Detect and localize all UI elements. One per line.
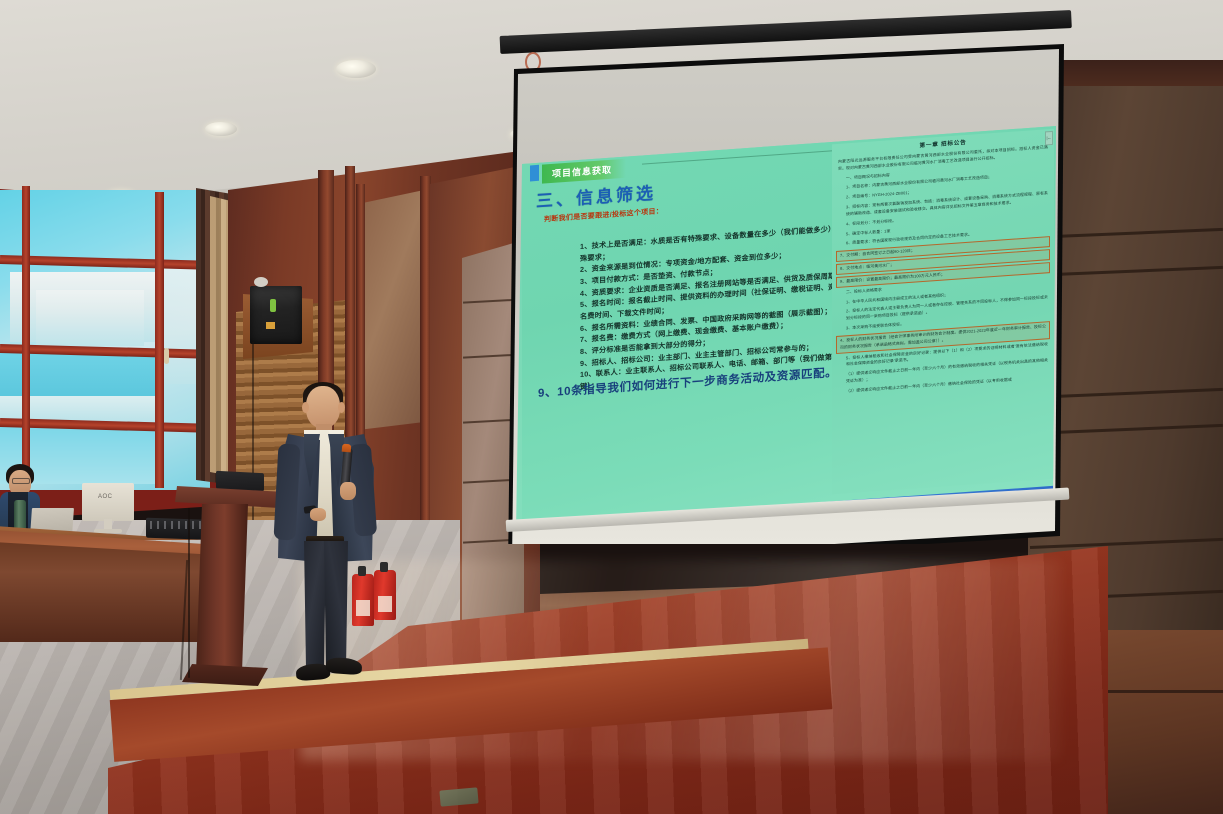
speaker-mount	[254, 277, 268, 287]
downlight-icon	[205, 122, 237, 136]
podium-cable	[188, 508, 190, 678]
microphone-head	[342, 444, 352, 453]
speaker-indicator-icon	[270, 299, 276, 312]
downlight-icon	[336, 60, 376, 78]
loudspeaker	[250, 286, 302, 344]
presenter-hand-left	[310, 508, 326, 521]
badge-accent-tab	[530, 165, 539, 182]
desk-monitor	[82, 483, 134, 521]
presenter-ear	[338, 402, 345, 413]
monitor-base	[94, 529, 122, 533]
scroll-indicator: |←	[1045, 131, 1053, 146]
projection-screen: 一诺环境 INNOVATION ENVIRONMENT Innogreen 英语…	[508, 44, 1068, 544]
window-frame-vertical	[22, 186, 30, 486]
embedded-document-screenshot: |← 第一章 招标公告 内蒙古阳光远源服务平台有限责任公司受内蒙古黄河西部水业股…	[832, 129, 1054, 495]
presenter-head	[306, 386, 340, 428]
presenter-hand-right	[340, 482, 356, 500]
presenter-ear	[302, 402, 309, 413]
monitor-brand-label: AOC	[98, 494, 113, 500]
floor-access-plate	[439, 787, 478, 806]
presenter-trouser-right	[324, 541, 350, 669]
exterior-building	[36, 290, 144, 346]
speaker-badge	[266, 322, 275, 329]
presenter-shoe-right	[325, 657, 362, 675]
operator-glasses-icon	[12, 478, 30, 484]
conference-room-photo: 一诺环境 INNOVATION ENVIRONMENT Innogreen 英语…	[0, 0, 1223, 814]
presenter-trouser-left	[302, 541, 326, 669]
window-handle[interactable]	[164, 348, 169, 364]
presenter	[260, 386, 390, 706]
podium-laptop[interactable]	[216, 471, 264, 492]
window-frame-vertical	[155, 192, 164, 488]
podium-column	[196, 504, 248, 672]
